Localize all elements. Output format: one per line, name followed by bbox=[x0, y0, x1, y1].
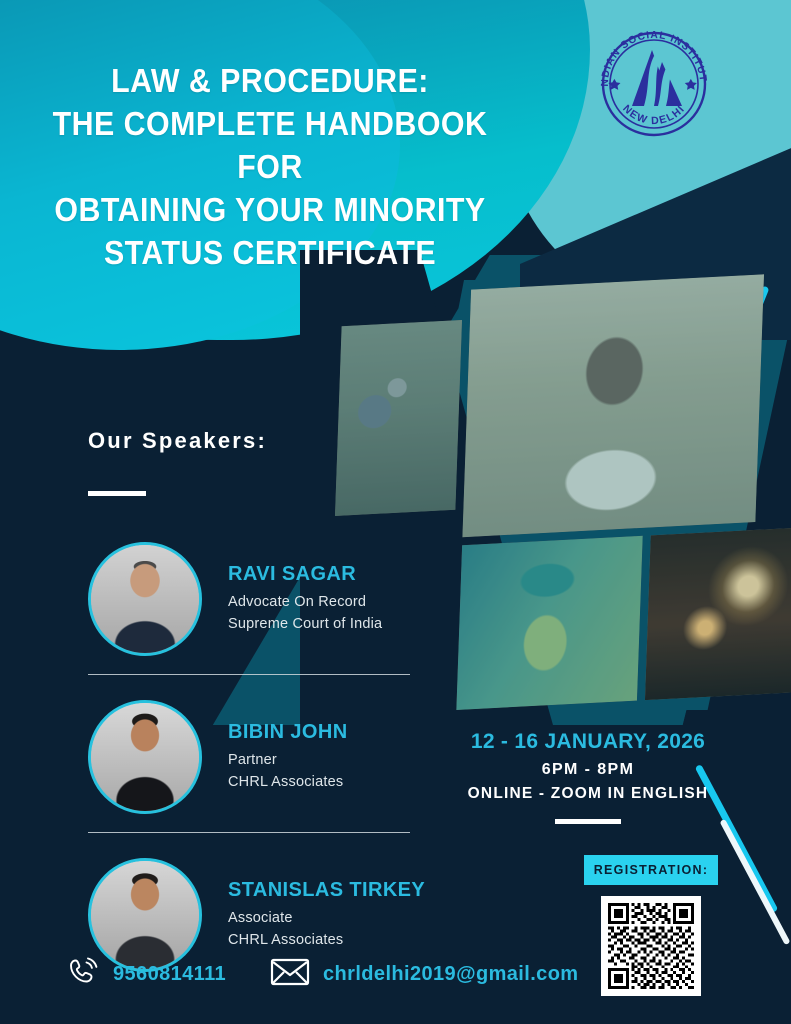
speakers-heading: Our Speakers: bbox=[88, 428, 267, 454]
event-rule bbox=[555, 819, 621, 824]
registration-qr-code[interactable] bbox=[601, 896, 701, 996]
speaker-row-2: BIBIN JOHN Partner CHRL Associates bbox=[0, 678, 430, 836]
speaker-org-1: Supreme Court of India bbox=[228, 614, 382, 635]
title-line-1: LAW & PROCEDURE: bbox=[22, 60, 519, 103]
speaker-name-1: RAVI SAGAR bbox=[228, 563, 382, 586]
indian-social-institute-logo: INDIAN SOCIAL INSTITUTE NEW DELHI bbox=[592, 22, 716, 146]
poster-title: LAW & PROCEDURE: THE COMPLETE HANDBOOK F… bbox=[0, 60, 540, 274]
event-details: 12 - 16 JANUARY, 2026 6PM - 8PM ONLINE -… bbox=[448, 730, 728, 824]
phone-number: 9560814111 bbox=[113, 963, 226, 986]
speaker-org-2: CHRL Associates bbox=[228, 772, 348, 793]
title-line-4: STATUS CERTIFICATE bbox=[22, 232, 519, 275]
email-address: chrldelhi2019@gmail.com bbox=[323, 963, 578, 986]
speaker-divider-2 bbox=[88, 832, 410, 833]
speaker-org-3: CHRL Associates bbox=[228, 930, 425, 951]
title-line-2: THE COMPLETE HANDBOOK FOR bbox=[22, 103, 519, 189]
collage-photo-buddhist-statue bbox=[456, 536, 642, 710]
collage-photo-night-festival bbox=[645, 527, 791, 700]
contact-email[interactable]: chrldelhi2019@gmail.com bbox=[270, 957, 578, 992]
speaker-role-3: Associate bbox=[228, 908, 425, 929]
registration-label[interactable]: REGISTRATION: bbox=[584, 855, 718, 885]
speaker-name-3: STANISLAS TIRKEY bbox=[228, 879, 425, 902]
event-mode: ONLINE - ZOOM IN ENGLISH bbox=[448, 785, 728, 803]
contact-phone[interactable]: 9560814111 bbox=[66, 955, 226, 994]
speaker-role-2: Partner bbox=[228, 750, 348, 771]
decorative-stripe-white-bottom bbox=[719, 819, 790, 945]
phone-ringing-icon bbox=[66, 955, 100, 994]
speakers-list: RAVI SAGAR Advocate On Record Supreme Co… bbox=[0, 520, 430, 994]
collage-photo-elderly-woman bbox=[462, 274, 764, 537]
svg-text:NEW DELHI: NEW DELHI bbox=[620, 103, 687, 128]
speaker-row-1: RAVI SAGAR Advocate On Record Supreme Co… bbox=[0, 520, 430, 678]
speaker-role-1: Advocate On Record bbox=[228, 592, 382, 613]
avatar-ravi-sagar bbox=[88, 542, 202, 656]
event-time: 6PM - 8PM bbox=[448, 761, 728, 779]
speakers-heading-rule bbox=[88, 491, 146, 496]
contact-bar: 9560814111 chrldelhi2019@gmail.com bbox=[66, 955, 579, 994]
envelope-icon bbox=[270, 957, 310, 992]
speaker-divider-1 bbox=[88, 674, 410, 675]
avatar-bibin-john bbox=[88, 700, 202, 814]
speaker-name-2: BIBIN JOHN bbox=[228, 721, 348, 744]
event-date: 12 - 16 JANUARY, 2026 bbox=[448, 730, 728, 754]
title-line-3: OBTAINING YOUR MINORITY bbox=[22, 189, 519, 232]
collage-photo-tribal-procession bbox=[335, 320, 462, 516]
